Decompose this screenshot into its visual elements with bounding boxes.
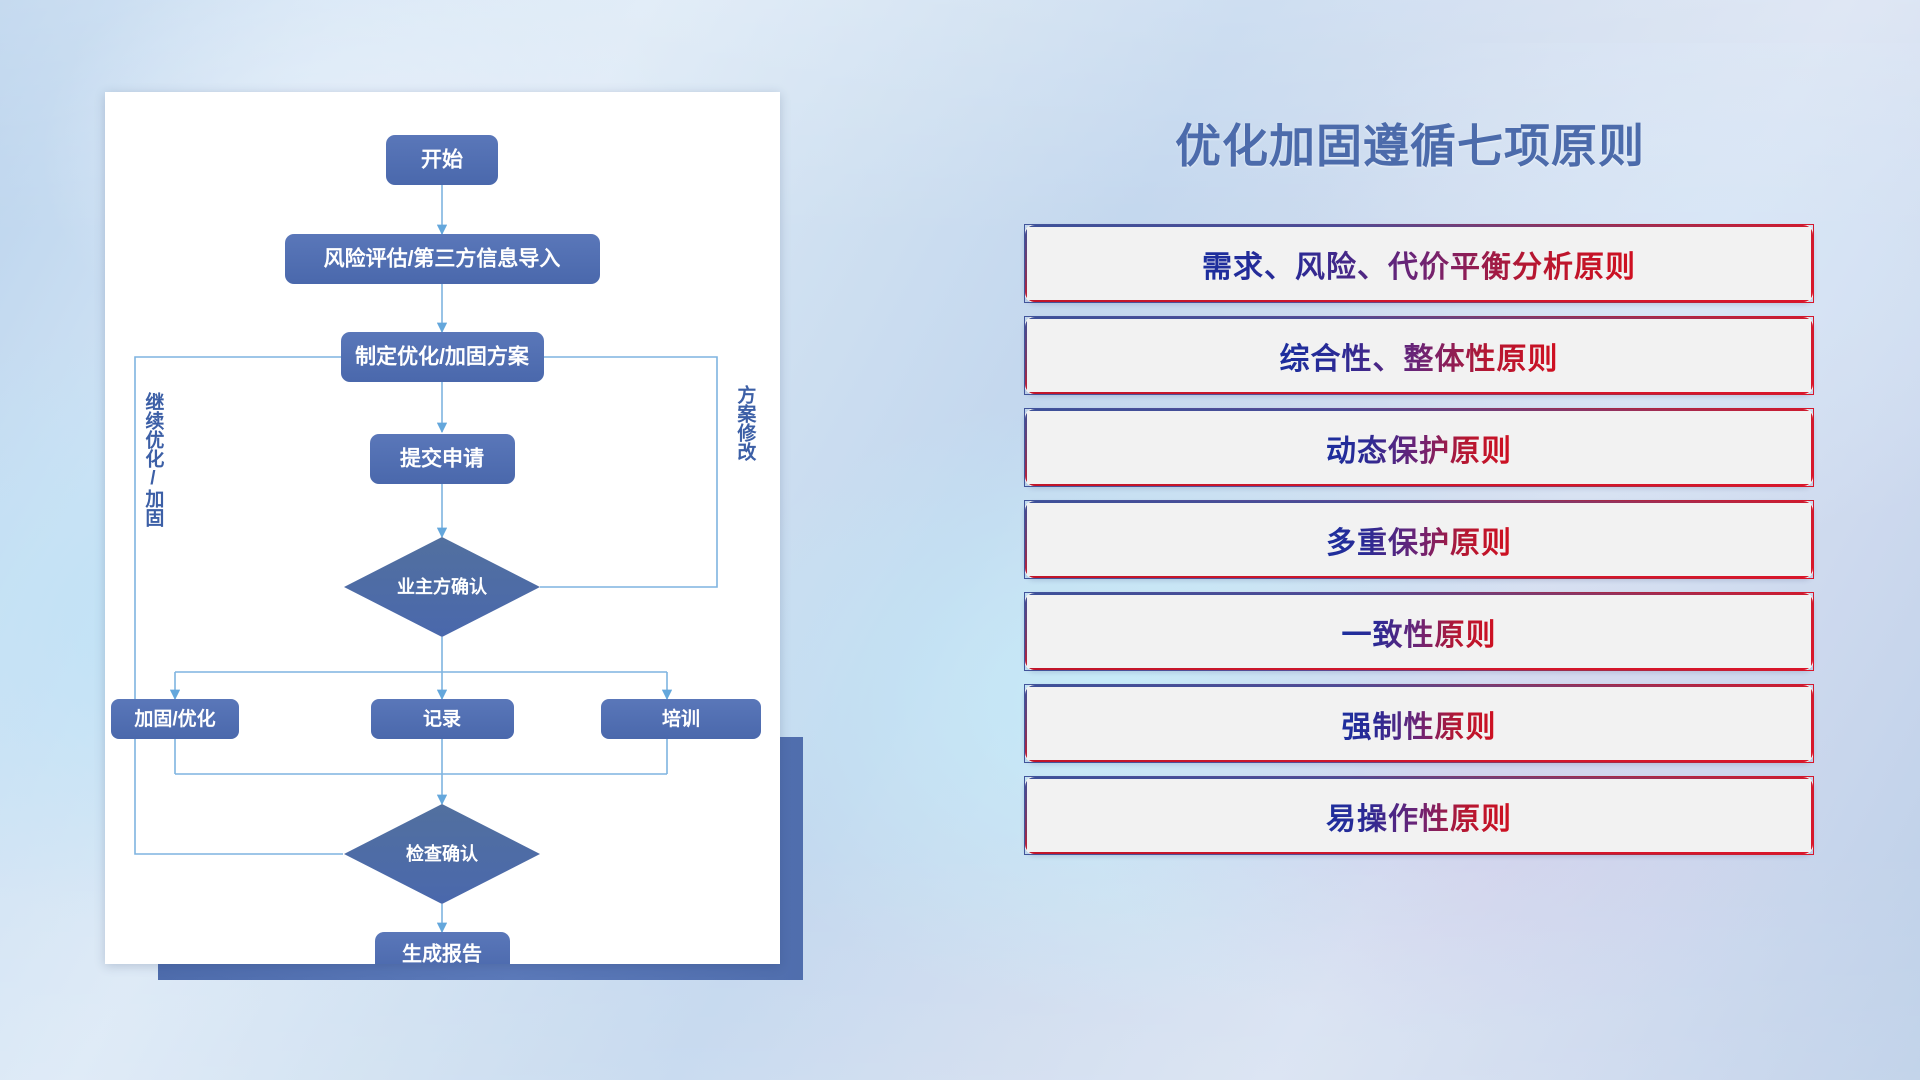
flow-node-risk-assessment: 风险评估/第三方信息导入 <box>285 234 600 284</box>
principle-item[interactable]: 综合性、整体性原则 <box>1024 316 1814 395</box>
svg-text:检查确认: 检查确认 <box>406 843 479 864</box>
principles-title: 优化加固遵循七项原则 <box>1000 110 1820 176</box>
principle-border-right <box>1811 593 1813 670</box>
flowchart-diagram: 开始 风险评估/第三方信息导入 制定优化/加固方案 提交申请 业主方确认 加固/… <box>105 92 780 964</box>
principle-border-right <box>1811 225 1813 302</box>
svg-text:开始: 开始 <box>421 148 463 172</box>
principles-list: 需求、风险、代价平衡分析原则 综合性、整体性原则 动态保护原则 多重保护原则 <box>1024 224 1814 868</box>
svg-text:加固/优化: 加固/优化 <box>133 707 215 730</box>
principle-border-left <box>1025 225 1027 302</box>
principle-border-left <box>1025 317 1027 394</box>
svg-text:记录: 记录 <box>423 708 461 730</box>
flow-node-plan: 制定优化/加固方案 <box>341 332 544 382</box>
principle-label: 综合性、整体性原则 <box>1280 334 1559 378</box>
principle-border-left <box>1025 593 1027 670</box>
principle-border-top <box>1025 593 1813 595</box>
principle-border-top <box>1025 685 1813 687</box>
principle-item[interactable]: 一致性原则 <box>1024 592 1814 671</box>
principle-border-bottom <box>1025 392 1813 394</box>
svg-text:业主方确认: 业主方确认 <box>397 576 488 597</box>
flow-node-training: 培训 <box>601 699 761 739</box>
flow-node-report: 生成报告 <box>375 932 510 964</box>
flow-node-submit: 提交申请 <box>370 434 515 484</box>
flow-node-reinforce: 加固/优化 <box>111 699 239 739</box>
principle-border-bottom <box>1025 576 1813 578</box>
principle-item[interactable]: 易操作性原则 <box>1024 776 1814 855</box>
principle-border-left <box>1025 501 1027 578</box>
principle-border-left <box>1025 409 1027 486</box>
principle-label: 一致性原则 <box>1342 610 1497 654</box>
principle-border-right <box>1811 501 1813 578</box>
principle-label: 动态保护原则 <box>1326 426 1512 470</box>
principle-border-right <box>1811 777 1813 854</box>
principle-border-bottom <box>1025 852 1813 854</box>
flow-edge-label-continue-optimize: 继续优化/加固 <box>143 392 162 527</box>
svg-text:培训: 培训 <box>662 707 700 730</box>
principle-label: 多重保护原则 <box>1326 518 1512 562</box>
flow-node-start: 开始 <box>386 135 498 185</box>
principle-border-bottom <box>1025 760 1813 762</box>
flow-node-owner-confirm: 业主方确认 <box>344 537 540 637</box>
principle-border-bottom <box>1025 668 1813 670</box>
flow-node-record: 记录 <box>371 699 514 739</box>
principle-item[interactable]: 需求、风险、代价平衡分析原则 <box>1024 224 1814 303</box>
principle-label: 强制性原则 <box>1342 702 1497 746</box>
flowchart-panel: 开始 风险评估/第三方信息导入 制定优化/加固方案 提交申请 业主方确认 加固/… <box>0 0 900 1080</box>
svg-text:制定优化/加固方案: 制定优化/加固方案 <box>355 345 530 369</box>
principle-border-top <box>1025 317 1813 319</box>
principle-border-top <box>1025 409 1813 411</box>
principle-border-top <box>1025 777 1813 779</box>
principle-border-right <box>1811 409 1813 486</box>
flow-node-check-confirm: 检查确认 <box>344 804 540 904</box>
principle-border-bottom <box>1025 484 1813 486</box>
principles-panel: 优化加固遵循七项原则 需求、风险、代价平衡分析原则 综合性、整体性原则 动态保护… <box>1000 0 1920 1080</box>
principle-item[interactable]: 多重保护原则 <box>1024 500 1814 579</box>
svg-text:提交申请: 提交申请 <box>400 447 484 471</box>
principle-label: 需求、风险、代价平衡分析原则 <box>1202 242 1636 286</box>
svg-text:风险评估/第三方信息导入: 风险评估/第三方信息导入 <box>324 247 561 271</box>
flow-edge-label-plan-revision: 方案修改 <box>735 385 754 461</box>
principle-border-top <box>1025 501 1813 503</box>
principle-border-right <box>1811 685 1813 762</box>
principle-border-right <box>1811 317 1813 394</box>
principle-border-bottom <box>1025 300 1813 302</box>
principle-label: 易操作性原则 <box>1326 794 1512 838</box>
principle-border-left <box>1025 685 1027 762</box>
principle-border-top <box>1025 225 1813 227</box>
svg-text:生成报告: 生成报告 <box>402 941 482 964</box>
principle-item[interactable]: 强制性原则 <box>1024 684 1814 763</box>
principle-item[interactable]: 动态保护原则 <box>1024 408 1814 487</box>
principle-border-left <box>1025 777 1027 854</box>
